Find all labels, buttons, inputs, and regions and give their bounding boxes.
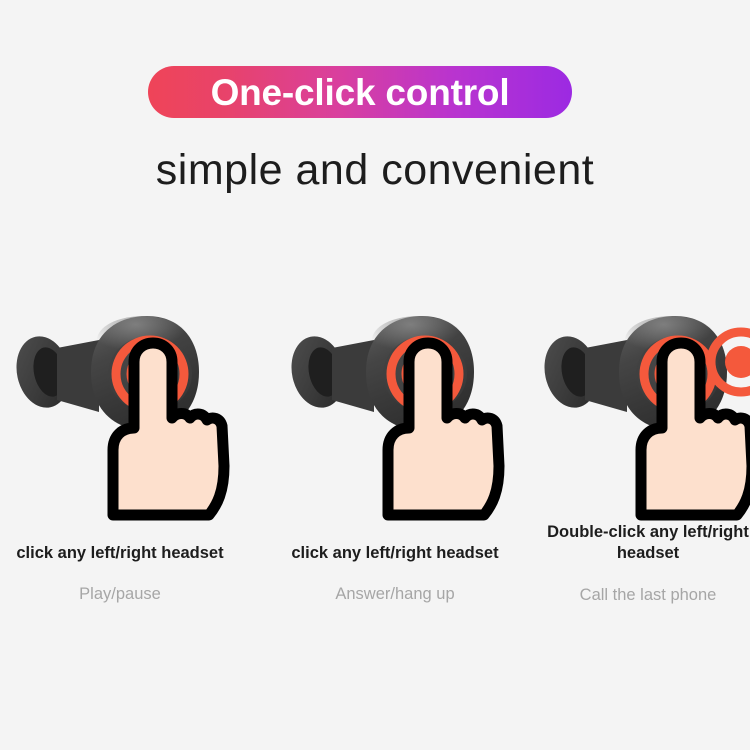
earbud-double-tap-icon <box>523 300 750 525</box>
feature-panel-play-pause: click any left/right headset Play/pause <box>0 300 245 730</box>
page-subtitle: simple and convenient <box>0 146 750 195</box>
title-banner: One-click control <box>148 66 572 118</box>
panel-subcaption: Call the last phone <box>523 585 750 606</box>
feature-panel-call-last-phone: Double-click any left/right headset Call… <box>523 300 750 730</box>
feature-panel-answer-hangup: click any left/right headset Answer/hang… <box>270 300 520 730</box>
panel-caption: click any left/right headset <box>270 543 520 564</box>
earbud-single-tap-icon <box>270 300 520 525</box>
panel-subcaption: Answer/hang up <box>270 584 520 605</box>
promo-page: One-click control simple and convenient <box>0 0 750 750</box>
banner-title: One-click control <box>211 74 510 111</box>
panel-caption: click any left/right headset <box>0 543 245 564</box>
panel-caption: Double-click any left/right headset <box>523 522 750 565</box>
panel-subcaption: Play/pause <box>0 584 245 605</box>
earbud-single-tap-icon <box>0 300 245 525</box>
